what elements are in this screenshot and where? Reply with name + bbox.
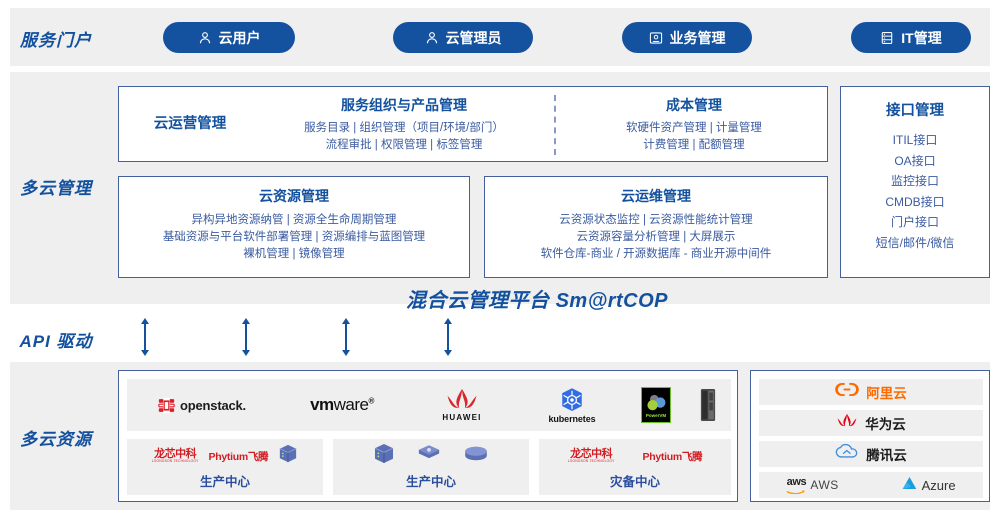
phytium-logo: Phytium飞腾 xyxy=(643,449,703,464)
column-title: 服务组织与产品管理 xyxy=(259,95,549,115)
kubernetes-logo: kubernetes xyxy=(517,379,627,431)
user-icon xyxy=(425,31,439,45)
box-line: 裸机管理 | 镜像管理 xyxy=(119,246,469,263)
double-arrow-icon xyxy=(341,318,351,356)
server-cube-icon xyxy=(373,443,395,469)
box-title: 云运维管理 xyxy=(485,186,827,206)
box-line: 软件仓库-商业 / 开源数据库 - 商业开源中间件 xyxy=(485,246,827,263)
user-icon xyxy=(198,31,212,45)
loongson-sub-label: LOONGSON TECHNOLOGY xyxy=(152,460,199,463)
portal-pill-label: 业务管理 xyxy=(670,28,726,48)
datacenter-name: 生产中心 xyxy=(333,471,529,490)
interface-item: 监控接口 xyxy=(841,171,989,192)
aws-label: AWS xyxy=(810,478,838,492)
datacenter-tile: 龙芯中科 LOONGSON TECHNOLOGY Phytium飞腾 生产中心 xyxy=(127,439,323,495)
aliyun-icon xyxy=(835,382,859,402)
tencent-cloud-icon xyxy=(835,444,859,465)
server-list-icon xyxy=(880,31,894,45)
openstack-logo: openstack. xyxy=(127,379,277,431)
public-cloud-tile-aliyun[interactable]: 阿里云 xyxy=(759,379,983,405)
cloud-operations-box: 云运营管理 服务组织与产品管理 服务目录 | 组织管理（项目/环境/部门） 流程… xyxy=(118,86,828,162)
virtualization-logo-row: openstack. vmware® HUAWEI kubernetes Pow… xyxy=(127,379,731,431)
api-driven-label: API 驱动 xyxy=(0,327,112,352)
portal-pill-it-mgmt[interactable]: IT管理 xyxy=(851,22,971,53)
portal-pill-label: 云用户 xyxy=(219,28,261,48)
loongson-logo: 龙芯中科 LOONGSON TECHNOLOGY xyxy=(568,449,615,463)
powervm-logo: PowerVM xyxy=(627,379,685,431)
service-portal-label: 服务门户 xyxy=(0,26,112,51)
public-cloud-box: 阿里云 华为云 腾讯云 aws AWS xyxy=(750,370,990,502)
public-cloud-tile-aws-azure[interactable]: aws AWS Azure xyxy=(759,472,983,498)
huawei-flower-icon xyxy=(836,413,858,434)
loongson-sub-label: LOONGSON TECHNOLOGY xyxy=(568,460,615,463)
interface-mgmt-panel: 接口管理 ITIL接口 OA接口 监控接口 CMDB接口 门户接口 短信/邮件/… xyxy=(840,86,990,278)
double-arrow-icon xyxy=(443,318,453,356)
huawei-logo: HUAWEI xyxy=(407,379,517,431)
architecture-diagram: 服务门户 云用户 云管理员 业务管理 IT管理 多云管理 云运营管理 服务组织与… xyxy=(0,0,1000,518)
phytium-logo: Phytium飞腾 xyxy=(209,449,269,464)
portal-pill-label: 云管理员 xyxy=(446,28,502,48)
storage-disk-icon xyxy=(463,445,489,468)
multicloud-resources-label: 多云资源 xyxy=(0,425,112,450)
datacenter-brand-row: 龙芯中科 LOONGSON TECHNOLOGY Phytium飞腾 xyxy=(127,443,323,469)
private-cloud-box: openstack. vmware® HUAWEI kubernetes Pow… xyxy=(118,370,738,502)
datacenter-tile: 生产中心 xyxy=(333,439,529,495)
interface-item: CMDB接口 xyxy=(841,192,989,213)
multicloud-management-label: 多云管理 xyxy=(0,174,112,199)
interface-item: 短信/邮件/微信 xyxy=(841,233,989,254)
cost-mgmt-column: 成本管理 软硬件资产管理 | 计量管理 计费管理 | 配额管理 xyxy=(569,95,819,154)
datacenter-tile: 龙芯中科 LOONGSON TECHNOLOGY Phytium飞腾 灾备中心 xyxy=(539,439,731,495)
public-cloud-label: 华为云 xyxy=(865,413,906,433)
interface-item: 门户接口 xyxy=(841,212,989,233)
double-arrow-icon xyxy=(241,318,251,356)
azure-logo[interactable]: Azure xyxy=(901,476,956,495)
portal-pill-cloud-user[interactable]: 云用户 xyxy=(163,22,295,53)
box-title: 云资源管理 xyxy=(119,186,469,206)
interface-item: OA接口 xyxy=(841,151,989,172)
monitor-icon xyxy=(649,31,663,45)
powervm-label: PowerVM xyxy=(646,413,666,418)
huawei-label: HUAWEI xyxy=(442,413,481,422)
datacenter-icon-row xyxy=(333,443,529,469)
public-cloud-tile-huaweicloud[interactable]: 华为云 xyxy=(759,410,983,436)
public-cloud-tile-tencentcloud[interactable]: 腾讯云 xyxy=(759,441,983,467)
portal-pill-business-mgmt[interactable]: 业务管理 xyxy=(622,22,752,53)
azure-label: Azure xyxy=(922,478,956,493)
azure-icon xyxy=(901,476,918,495)
huawei-flower-icon xyxy=(445,388,479,412)
column-title: 成本管理 xyxy=(569,95,819,115)
column-line: 软硬件资产管理 | 计量管理 xyxy=(569,120,819,137)
column-line: 流程审批 | 权限管理 | 标签管理 xyxy=(259,137,549,154)
aws-logo[interactable]: aws AWS xyxy=(786,477,838,494)
portal-pill-label: IT管理 xyxy=(901,28,941,48)
datacenter-name: 灾备中心 xyxy=(539,471,731,490)
box-line: 云资源容量分析管理 | 大屏展示 xyxy=(485,229,827,246)
public-cloud-label: 阿里云 xyxy=(866,382,907,402)
cloud-devops-mgmt-box: 云运维管理 云资源状态监控 | 云资源性能统计管理 云资源容量分析管理 | 大屏… xyxy=(484,176,828,278)
double-arrow-icon xyxy=(140,318,150,356)
vmware-logo: vmware® xyxy=(277,379,407,431)
service-product-mgmt-column: 服务组织与产品管理 服务目录 | 组织管理（项目/环境/部门） 流程审批 | 权… xyxy=(259,95,549,154)
operations-dashed-divider xyxy=(554,95,556,155)
cloud-resource-mgmt-box: 云资源管理 异构异地资源纳管 | 资源全生命周期管理 基础资源与平台软件部署管理… xyxy=(118,176,470,278)
openstack-label: openstack. xyxy=(180,398,246,413)
box-line: 基础资源与平台软件部署管理 | 资源编排与蓝图管理 xyxy=(119,229,469,246)
box-line: 异构异地资源纳管 | 资源全生命周期管理 xyxy=(119,212,469,229)
box-line: 云资源状态监控 | 云资源性能统计管理 xyxy=(485,212,827,229)
portal-pill-cloud-admin[interactable]: 云管理员 xyxy=(393,22,533,53)
kubernetes-label: kubernetes xyxy=(548,414,595,424)
platform-name: 混合云管理平台 Sm@rtCOP xyxy=(406,284,668,313)
column-line: 计费管理 | 配额管理 xyxy=(569,137,819,154)
kubernetes-helm-icon xyxy=(559,387,585,413)
datacenter-name: 生产中心 xyxy=(127,471,323,490)
cloud-operations-side-title: 云运营管理 xyxy=(131,112,249,133)
server-cube-icon xyxy=(278,444,298,468)
vmware-label: vmware® xyxy=(310,395,374,415)
interface-item: ITIL接口 xyxy=(841,130,989,151)
switch-icon xyxy=(417,443,441,469)
loongson-logo: 龙芯中科 LOONGSON TECHNOLOGY xyxy=(152,449,199,463)
aws-smile-icon xyxy=(786,488,806,494)
column-line: 服务目录 | 组织管理（项目/环境/部门） xyxy=(259,120,549,137)
datacenter-brand-row: 龙芯中科 LOONGSON TECHNOLOGY Phytium飞腾 xyxy=(539,443,731,469)
server-rack-logo xyxy=(685,379,731,431)
interface-panel-title: 接口管理 xyxy=(841,99,989,120)
public-cloud-label: 腾讯云 xyxy=(866,444,907,464)
